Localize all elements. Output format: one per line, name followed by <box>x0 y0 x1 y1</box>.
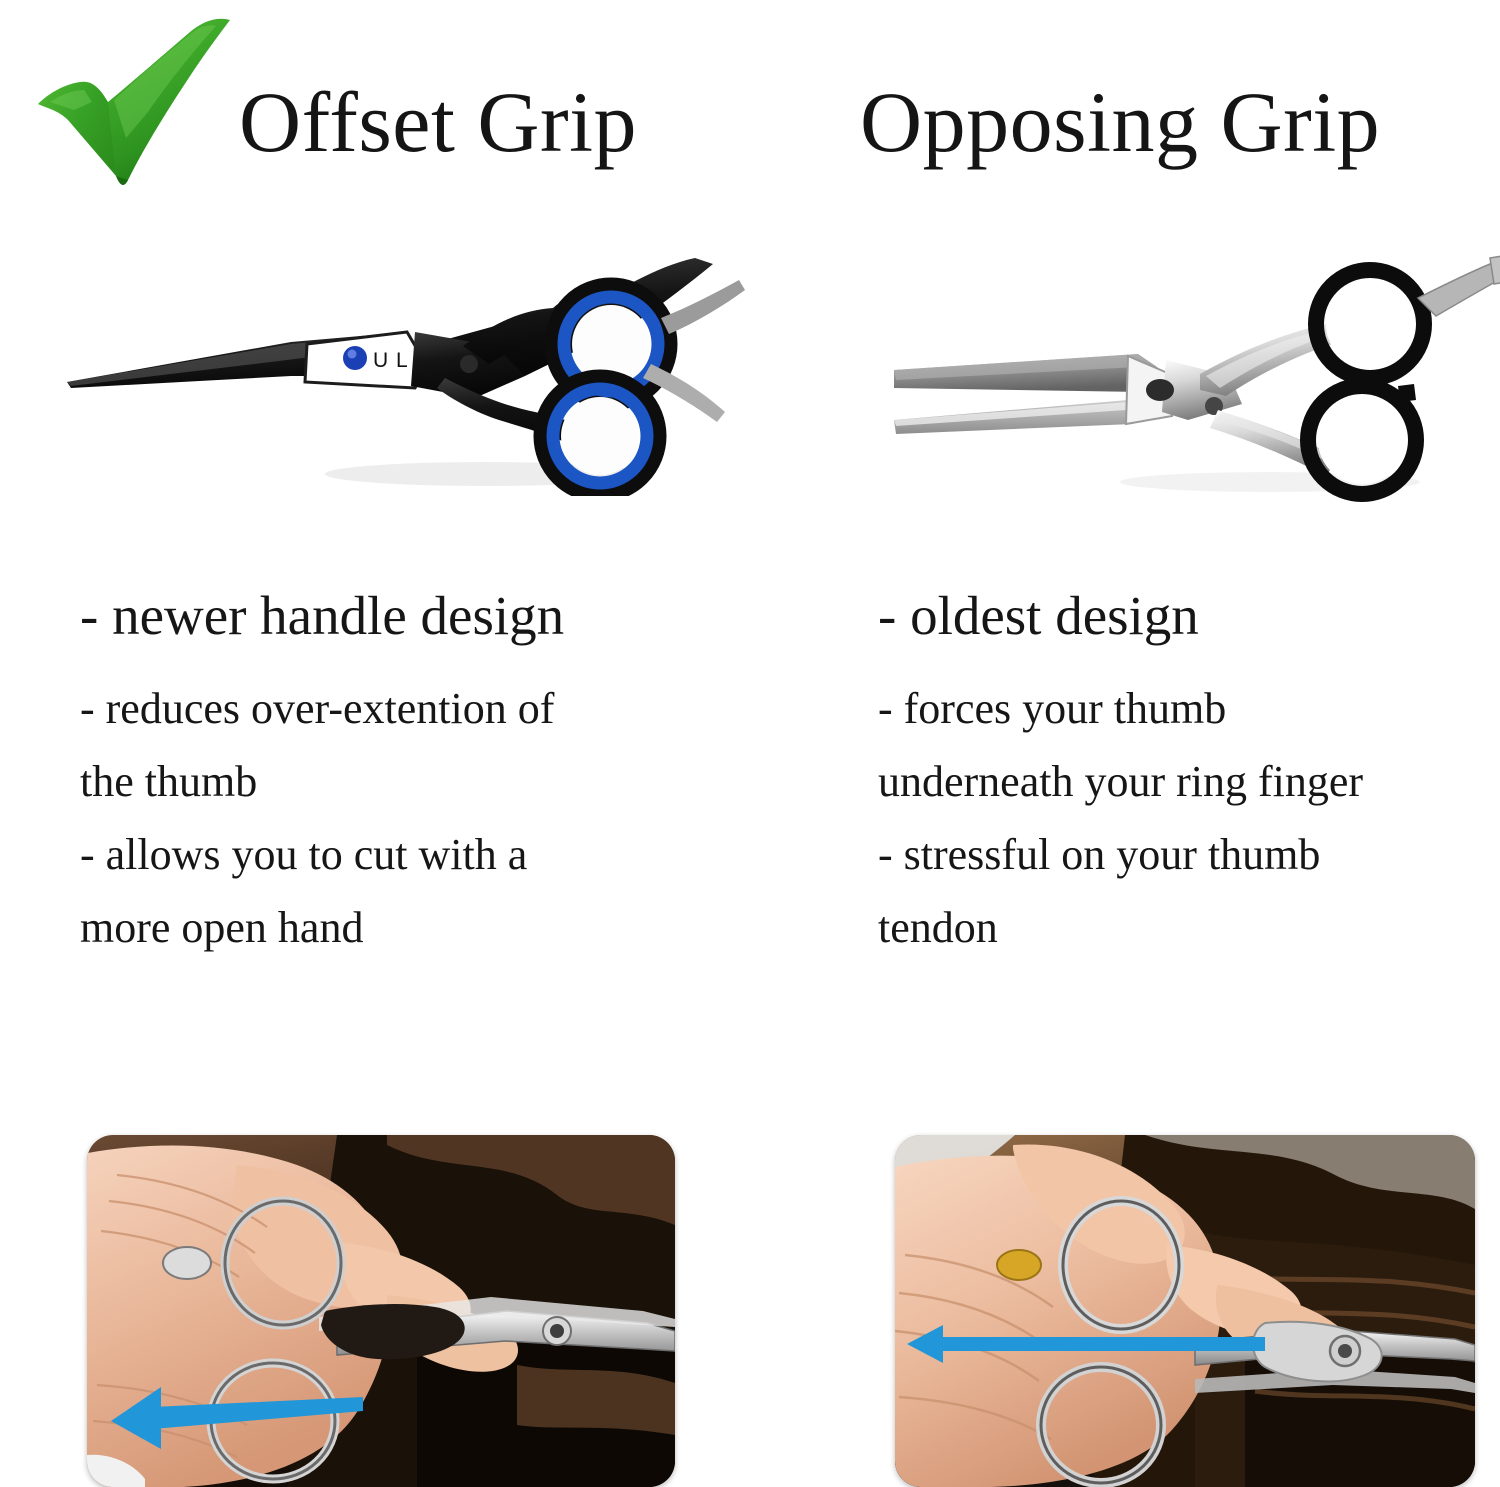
list-item: tendon <box>878 895 1498 962</box>
heading-row-offset: Offset Grip <box>30 62 730 182</box>
page-title-offset: Offset Grip <box>239 79 637 165</box>
column-offset-grip: Offset Grip <box>0 0 760 1487</box>
list-item: the thumb <box>80 749 740 816</box>
list-item: - reduces over-extention of <box>80 676 740 743</box>
heading-row-opposing: Opposing Grip <box>860 62 1500 182</box>
bullet-list-offset: - newer handle design - reduces over-ext… <box>80 588 740 962</box>
bullet-list-opposing: - oldest design - forces your thumb unde… <box>878 588 1498 962</box>
list-item: - forces your thumb <box>878 676 1498 743</box>
opposing-grip-hand-photo <box>895 1135 1475 1487</box>
list-item: - oldest design <box>878 588 1498 643</box>
green-check-icon <box>30 18 245 193</box>
ring-bottom <box>542 378 658 494</box>
opposing-grip-scissors-image <box>870 228 1500 503</box>
ring-bottom-opposing <box>1308 384 1416 494</box>
offset-grip-hand-photo <box>87 1135 675 1487</box>
offset-grip-scissors-image: U L O <box>55 236 745 496</box>
list-item: - newer handle design <box>80 588 740 643</box>
grip-comparison-infographic: Offset Grip <box>0 0 1500 1487</box>
list-item: underneath your ring finger <box>878 749 1498 816</box>
column-opposing-grip: Opposing Grip <box>760 0 1500 1487</box>
list-item: - allows you to cut with a <box>80 822 740 889</box>
list-item: more open hand <box>80 895 740 962</box>
list-item: - stressful on your thumb <box>878 822 1498 889</box>
page-title-opposing: Opposing Grip <box>860 79 1380 165</box>
blue-gem-logo <box>343 346 367 370</box>
ring-top-opposing <box>1316 270 1424 378</box>
